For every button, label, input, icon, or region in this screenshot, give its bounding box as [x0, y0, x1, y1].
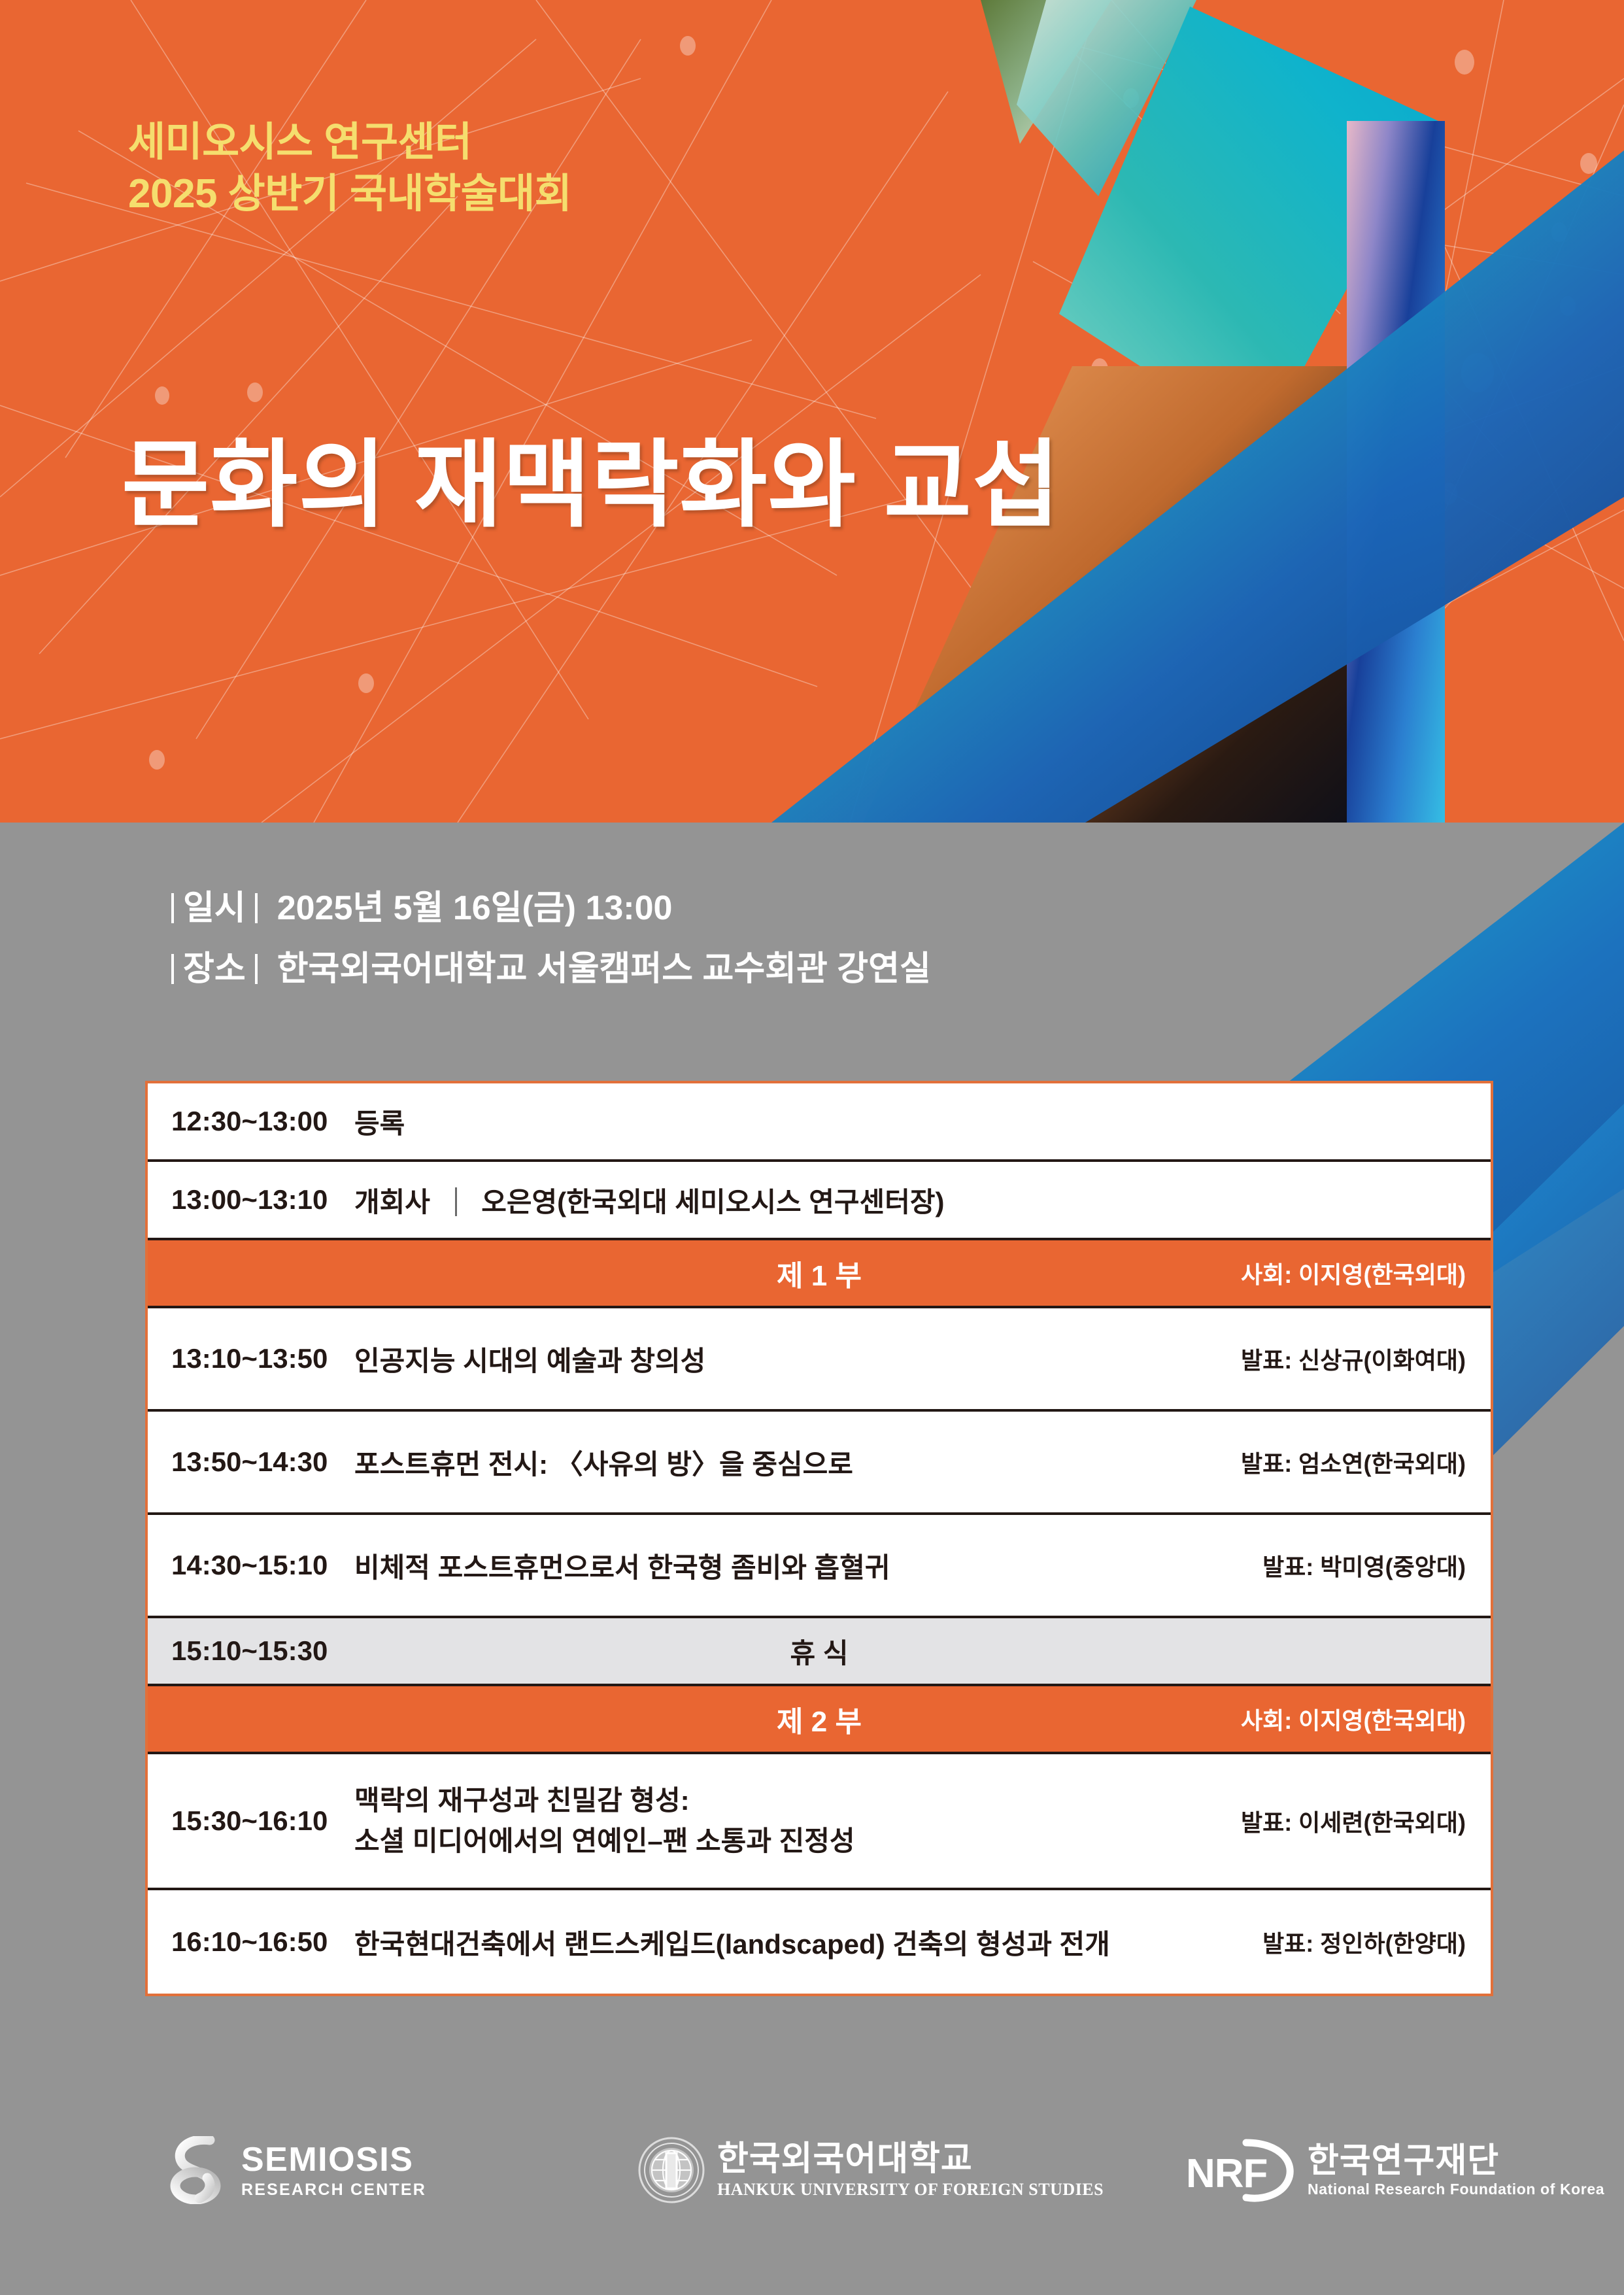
event-place-label: 장소 [183, 952, 246, 986]
row-title: 등록 [344, 1102, 1466, 1142]
footer-logos: SEMIOSIS RESEARCH CENTER [0, 2122, 1624, 2272]
event-date-row: 일시 2025년 5월 16일(금) 13:00 [162, 889, 931, 925]
table-row: 16:10~16:50 한국현대건축에서 랜드스케입드(landscaped) … [148, 1890, 1491, 1994]
row-title-line-1: 맥락의 재구성과 친밀감 형성: [354, 1780, 1228, 1821]
row-time: 15:30~16:10 [148, 1805, 344, 1837]
row-title: 인공지능 시대의 예술과 창의성 [344, 1339, 1241, 1379]
row-time: 15:10~15:30 [148, 1635, 344, 1667]
event-place-value: 한국외국어대학교 서울캠퍼스 교수회관 강연실 [277, 952, 931, 986]
table-row: 15:30~16:10 맥락의 재구성과 친밀감 형성: 소셜 미디어에서의 연… [148, 1754, 1491, 1890]
nrf-mark-group: NRF [1183, 2137, 1308, 2203]
row-title: 맥락의 재구성과 친밀감 형성: 소셜 미디어에서의 연예인–팬 소통과 진정성 [344, 1780, 1241, 1861]
table-row: 13:00~13:10 개회사 오은영(한국외대 세미오시스 연구센터장) [148, 1162, 1491, 1240]
poster-title: 문화의 재맥락화와 교섭 [122, 435, 1060, 535]
semiosis-subtitle: RESEARCH CENTER [241, 2182, 426, 2198]
event-info: 일시 2025년 5월 16일(금) 13:00 장소 한국외국어대학교 서울캠… [162, 889, 931, 1011]
table-row: 14:30~15:10 비체적 포스트휴먼으로서 한국형 좀비와 흡혈귀 발표:… [148, 1515, 1491, 1618]
part-chair: 사회: 이지영(한국외대) [1241, 1256, 1491, 1290]
row-presenter: 발표: 정인하(한양대) [1262, 1925, 1491, 1959]
row-presenter: 발표: 이세련(한국외대) [1241, 1804, 1491, 1838]
row-time: 13:50~14:30 [148, 1446, 344, 1478]
break-row: 15:10~15:30 휴 식 [148, 1618, 1491, 1686]
row-title: 포스트휴먼 전시: 〈사유의 방〉을 중심으로 [344, 1442, 1241, 1482]
vertical-divider-icon [455, 1187, 457, 1216]
row-time: 12:30~13:00 [148, 1106, 344, 1137]
divider-bar-right [255, 954, 258, 984]
event-place-row: 장소 한국외국어대학교 서울캠퍼스 교수회관 강연실 [162, 950, 931, 986]
row-title: 개회사 오은영(한국외대 세미오시스 연구센터장) [344, 1180, 1466, 1220]
row-title: 비체적 포스트휴먼으로서 한국형 좀비와 흡혈귀 [344, 1546, 1262, 1586]
divider-bar-right [255, 893, 258, 923]
break-title: 휴 식 [148, 1631, 1491, 1671]
opening-label: 개회사 [354, 1187, 430, 1217]
table-row: 12:30~13:00 등록 [148, 1083, 1491, 1162]
header-band: 세미오시스 연구센터 2025 상반기 국내학술대회 [0, 0, 1624, 823]
row-presenter: 발표: 박미영(중앙대) [1262, 1548, 1491, 1582]
row-time: 16:10~16:50 [148, 1926, 344, 1958]
nrf-wordmark: 한국연구재단 National Research Foundation of K… [1308, 2144, 1604, 2197]
logo-hufs: 한국외국어대학교 HANKUK UNIVERSITY OF FOREIGN ST… [637, 2136, 1104, 2204]
table-row: 13:50~14:30 포스트휴먼 전시: 〈사유의 방〉을 중심으로 발표: … [148, 1412, 1491, 1515]
semiosis-mobius-icon [167, 2136, 229, 2204]
event-place-label-group: 장소 [162, 950, 267, 986]
event-date-label-group: 일시 [162, 889, 267, 925]
row-time: 13:00~13:10 [148, 1184, 344, 1215]
logo-nrf: NRF 한국연구재단 National Research Foundation … [1183, 2137, 1604, 2203]
row-title-line-2: 소셜 미디어에서의 연예인–팬 소통과 진정성 [354, 1821, 1228, 1861]
part-chair: 사회: 이지영(한국외대) [1241, 1702, 1491, 1736]
part-header-row: 제 2 부 사회: 이지영(한국외대) [148, 1686, 1491, 1754]
semiosis-wordmark: SEMIOSIS RESEARCH CENTER [241, 2143, 426, 2198]
hufs-wordmark: 한국외국어대학교 HANKUK UNIVERSITY OF FOREIGN ST… [717, 2142, 1104, 2198]
row-time: 14:30~15:10 [148, 1550, 344, 1581]
row-title: 한국현대건축에서 랜드스케입드(landscaped) 건축의 형성과 전개 [344, 1922, 1262, 1962]
schedule-table: 12:30~13:00 등록 13:00~13:10 개회사 오은영(한국외대 … [145, 1081, 1493, 1996]
row-time: 13:10~13:50 [148, 1343, 344, 1374]
event-date-value: 2025년 5월 16일(금) 13:00 [277, 891, 673, 925]
divider-bar-left [171, 954, 174, 984]
event-date-label: 일시 [183, 891, 246, 925]
hufs-name-ko: 한국외국어대학교 [717, 2142, 1104, 2176]
row-presenter: 발표: 신상규(이화여대) [1241, 1342, 1491, 1376]
kicker-line-2: 2025 상반기 국내학술대회 [128, 168, 571, 220]
table-row: 13:10~13:50 인공지능 시대의 예술과 창의성 발표: 신상규(이화여… [148, 1308, 1491, 1412]
header-kicker: 세미오시스 연구센터 2025 상반기 국내학술대회 [128, 116, 571, 220]
conference-poster: 세미오시스 연구센터 2025 상반기 국내학술대회 문화의 재맥락화와 교섭 [0, 0, 1624, 2295]
row-presenter: 발표: 엄소연(한국외대) [1241, 1445, 1491, 1479]
divider-bar-left [171, 893, 174, 923]
hufs-seal-icon [637, 2136, 705, 2204]
logo-semiosis: SEMIOSIS RESEARCH CENTER [167, 2136, 426, 2204]
hufs-name-en: HANKUK UNIVERSITY OF FOREIGN STUDIES [717, 2181, 1104, 2198]
part-header-row: 제 1 부 사회: 이지영(한국외대) [148, 1240, 1491, 1308]
nrf-name-en: National Research Foundation of Korea [1308, 2182, 1604, 2197]
nrf-letters: NRF [1186, 2150, 1267, 2197]
semiosis-name: SEMIOSIS [241, 2143, 426, 2177]
kicker-line-1: 세미오시스 연구센터 [128, 116, 571, 168]
opening-speaker: 오은영(한국외대 세미오시스 연구센터장) [481, 1187, 944, 1217]
nrf-name-ko: 한국연구재단 [1308, 2144, 1604, 2178]
